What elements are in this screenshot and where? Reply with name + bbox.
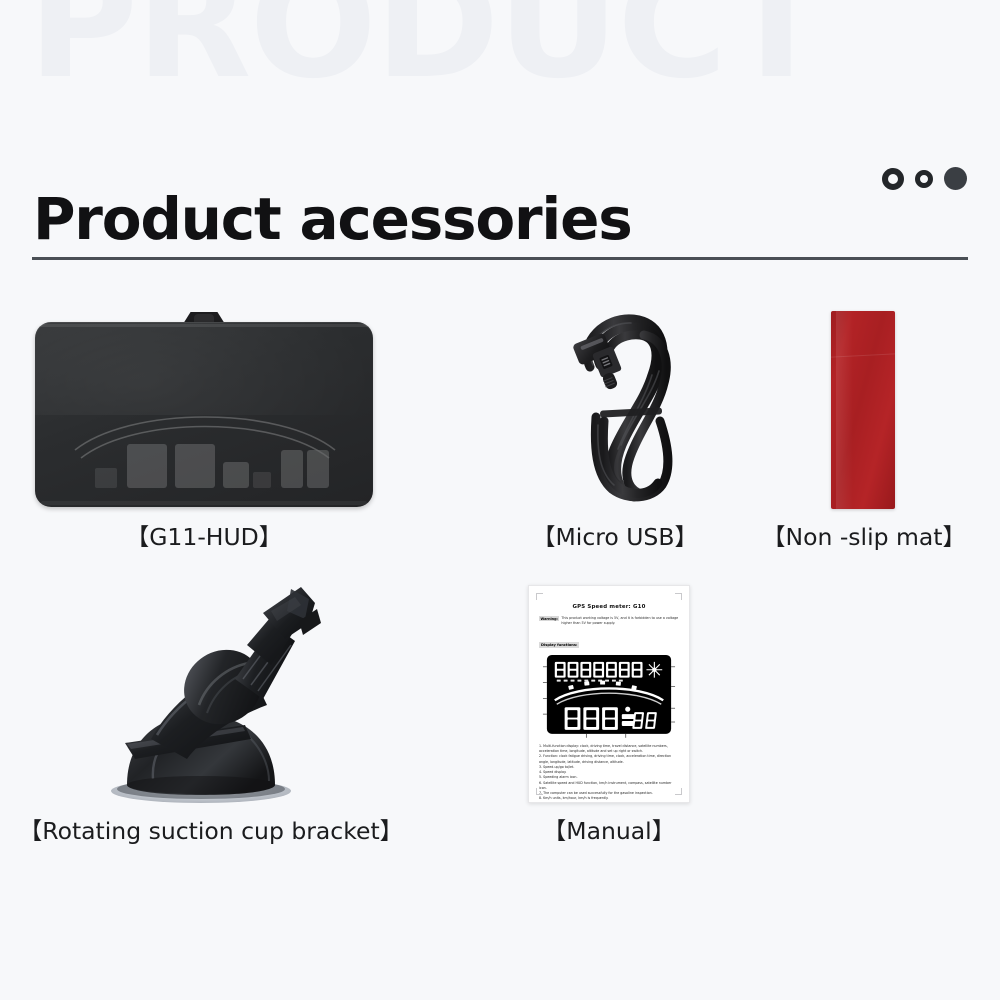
usb-cable-icon [560,305,710,510]
suction-cup-bracket-icon [95,583,327,815]
manual-feature-item: 2. Function: clock fatigue driving, driv… [539,754,679,765]
manual-corner-mark-tl [536,593,543,600]
caption-bracket: 【Rotating suction cup bracket】 [16,812,406,846]
caption-mat: 【Non -slip mat】 [750,518,978,552]
dot-ring-small-icon [915,170,933,188]
manual-sheet-icon: GPS Speed meter: G10 Warning: This produ… [528,585,690,803]
manual-warning-tag: Warning: [539,616,559,621]
non-slip-mat-icon [831,311,895,509]
caption-manual: 【Manual】 [528,812,690,846]
hud-ghost-display [35,322,373,507]
caption-usb: 【Micro USB】 [520,518,710,552]
mat-highlight [836,311,853,509]
dot-ring-large-icon [882,168,904,190]
hud-device-icon [35,312,373,507]
manual-corner-mark-br [675,788,682,795]
manual-feature-item: 1. Multi-function display: clock, drivin… [539,744,679,755]
page-title: Product acessories [33,185,632,253]
manual-feature-list: 1. Multi-function display: clock, drivin… [539,744,679,803]
hud-body [35,322,373,507]
manual-warning-text: This product working voltage is 5V, and … [561,616,679,626]
manual-warning-row: Warning: This product working voltage is… [539,616,679,626]
manual-lcd-diagram [539,653,679,738]
header-divider [32,257,968,260]
manual-feature-item: 6. Satellite speed and HUD function, km/… [539,781,679,792]
manual-feature-item: 9. The GPS speed has more image flashing… [539,802,679,803]
dot-filled-icon [944,167,967,190]
header-dot-indicator-group [882,167,967,190]
manual-corner-mark-tr [675,593,682,600]
hud-bottom-edge-highlight [41,501,367,505]
manual-section-heading: Display functions: [539,642,579,648]
caption-hud: 【G11-HUD】 [35,518,373,552]
background-watermark-text: PRODUCT [28,0,826,112]
manual-title: GPS Speed meter: G10 [539,604,679,610]
non-slip-mat-body [831,311,895,509]
manual-corner-mark-bl [536,788,543,795]
